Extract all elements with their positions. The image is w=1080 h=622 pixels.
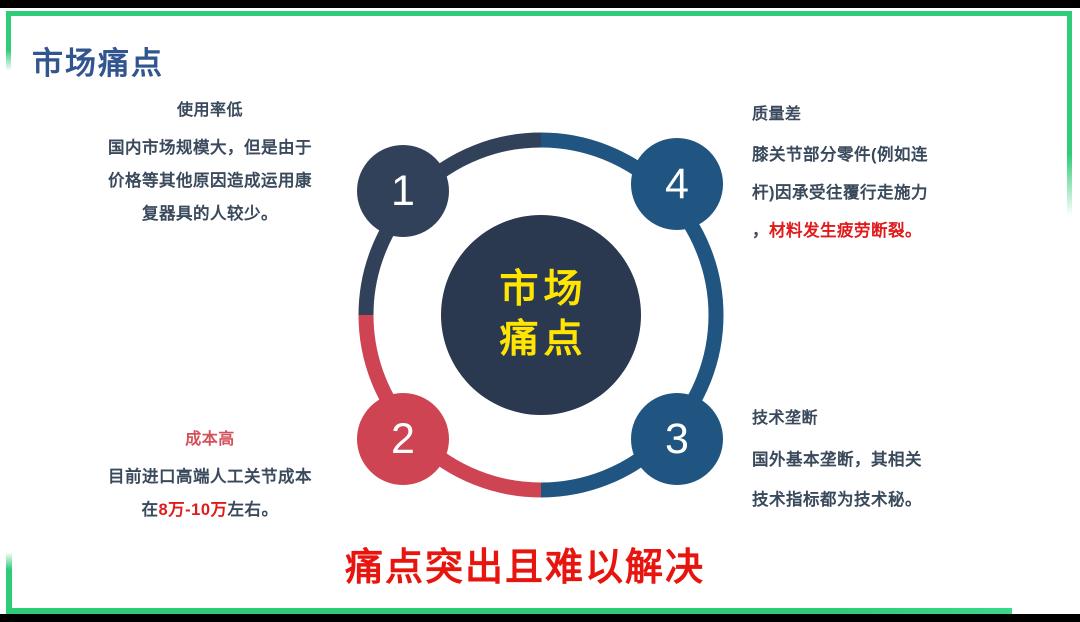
block-body: 膝关节部分零件(例如连 杆)因承受往覆行走施力 ，材料发生疲劳断裂。 <box>752 136 1052 250</box>
text-block-poor-quality: 质量差 膝关节部分零件(例如连 杆)因承受往覆行走施力 ，材料发生疲劳断裂。 <box>752 100 1052 250</box>
block-body-line: 国外基本垄断，其相关 <box>752 440 1052 480</box>
line-prefix: 在 <box>141 501 158 519</box>
block-heading: 质量差 <box>752 100 1052 124</box>
slide-root: 市场痛点 使用率低 国内市场规模大，但是由于 价格等其他原因造成运用康 复器具的… <box>0 0 1080 622</box>
page-title: 市场痛点 <box>32 38 164 83</box>
block-body-line: 杆)因承受往覆行走施力 <box>752 174 1052 212</box>
hub-line-1: 市场 <box>494 265 587 315</box>
frame-right-edge <box>1067 11 1072 216</box>
hub-circle: 市场 痛点 <box>441 215 641 415</box>
block-body: 国外基本垄断，其相关 技术指标都为技术秘。 <box>752 440 1052 520</box>
node-circle-4[interactable]: 4 <box>631 138 723 230</box>
block-body: 目前进口高端人工关节成本 在8万-10万左右。 <box>70 461 350 527</box>
frame-top-edge <box>6 11 1072 16</box>
block-body-line: 技术指标都为技术秘。 <box>752 480 1052 520</box>
block-heading: 使用率低 <box>70 96 350 120</box>
line-prefix: ， <box>752 222 769 240</box>
node-circle-2[interactable]: 2 <box>357 393 449 485</box>
line-suffix: 左右。 <box>228 501 279 519</box>
highlight-text: 8万-10万 <box>158 501 227 519</box>
ring-diagram: 市场 痛点 1 2 3 4 <box>331 105 751 525</box>
block-body-line: 膝关节部分零件(例如连 <box>752 136 1052 174</box>
highlight-text: 材料发生疲劳断裂。 <box>769 222 922 240</box>
block-body-line: ，材料发生疲劳断裂。 <box>752 212 1052 250</box>
block-body-line: 国内市场规模大，但是由于 <box>70 132 350 165</box>
frame-bottom-edge <box>6 608 1012 614</box>
hub-line-2: 痛点 <box>494 315 587 365</box>
block-body: 国内市场规模大，但是由于 价格等其他原因造成运用康 复器具的人较少。 <box>70 132 350 231</box>
bottom-headline: 痛点突出且难以解决 <box>0 536 1080 591</box>
text-block-usage-rate: 使用率低 国内市场规模大，但是由于 价格等其他原因造成运用康 复器具的人较少。 <box>70 96 350 231</box>
bottom-headline-text: 痛点突出且难以解决 <box>345 536 705 591</box>
block-body-line: 价格等其他原因造成运用康 <box>70 165 350 198</box>
frame-left-edge-upper <box>6 11 11 71</box>
text-block-high-cost: 成本高 目前进口高端人工关节成本 在8万-10万左右。 <box>70 425 350 527</box>
node-circle-3[interactable]: 3 <box>631 393 723 485</box>
node-circle-1[interactable]: 1 <box>357 145 449 237</box>
block-body-line: 目前进口高端人工关节成本 <box>70 461 350 494</box>
block-body-line: 在8万-10万左右。 <box>70 494 350 527</box>
block-body-line: 复器具的人较少。 <box>70 198 350 231</box>
block-heading: 成本高 <box>70 425 350 449</box>
block-heading: 技术垄断 <box>752 404 1052 428</box>
text-block-tech-monopoly: 技术垄断 国外基本垄断，其相关 技术指标都为技术秘。 <box>752 404 1052 520</box>
